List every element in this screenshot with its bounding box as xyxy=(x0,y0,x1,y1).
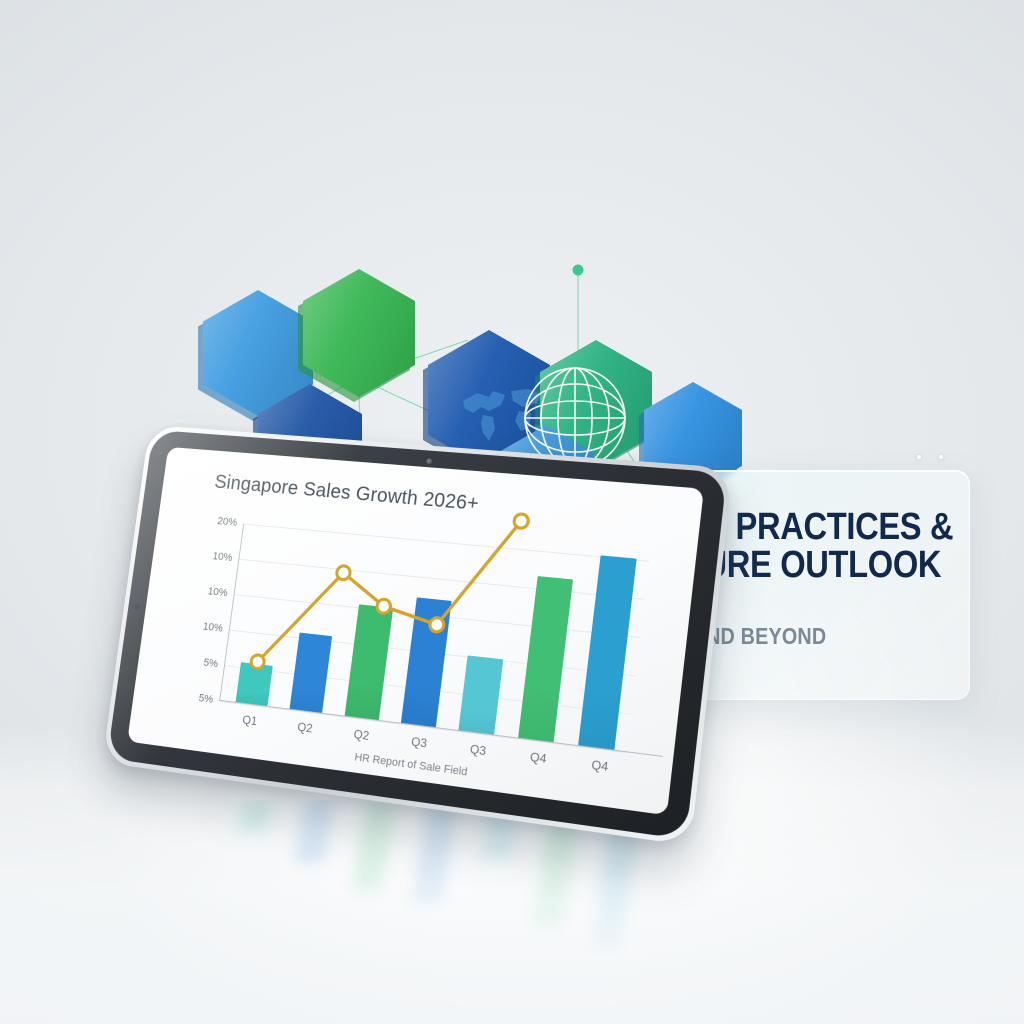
x-tick-label: Q4 xyxy=(591,758,609,775)
reflection-bar xyxy=(412,800,458,902)
x-tick-label: Q4 xyxy=(529,750,547,767)
x-tick-label: Q3 xyxy=(469,742,487,758)
reflection-bar xyxy=(352,800,396,892)
sales-growth-chart: Singapore Sales Growth 2026+ 20%10%10%10… xyxy=(127,447,704,815)
panel-dots xyxy=(917,455,943,459)
y-tick-label: 10% xyxy=(207,586,228,600)
y-tick-label: 5% xyxy=(198,692,214,705)
y-tick-label: 10% xyxy=(202,621,223,635)
chart-title: Singapore Sales Growth 2026+ xyxy=(213,472,480,516)
trend-line-series xyxy=(219,524,649,753)
y-tick-label: 10% xyxy=(212,551,233,564)
y-tick-label: 5% xyxy=(203,657,219,670)
side-button[interactable] xyxy=(134,603,140,609)
x-tick-label: Q1 xyxy=(242,713,258,729)
y-tick-label: 20% xyxy=(217,516,238,529)
x-axis-title: HR Report of Sale Field xyxy=(354,751,468,778)
camera-dot xyxy=(426,458,432,464)
x-tick-label: Q3 xyxy=(410,734,427,750)
dot xyxy=(917,455,921,459)
x-tick-label: Q2 xyxy=(353,727,370,743)
chart-plot-area: 20%10%10%10%5%5% Q1Q2Q2Q3Q3Q4Q4 HR Repor… xyxy=(219,524,649,753)
reflection-bar xyxy=(294,800,334,863)
tablet-screen[interactable]: Singapore Sales Growth 2026+ 20%10%10%10… xyxy=(127,447,704,815)
scene: BEST PRACTICES & FUTURE OUTLOOK 2026 AND… xyxy=(0,0,1024,1024)
x-tick-label: Q2 xyxy=(297,720,314,736)
dot xyxy=(939,455,943,459)
reflection-bar xyxy=(237,800,272,833)
